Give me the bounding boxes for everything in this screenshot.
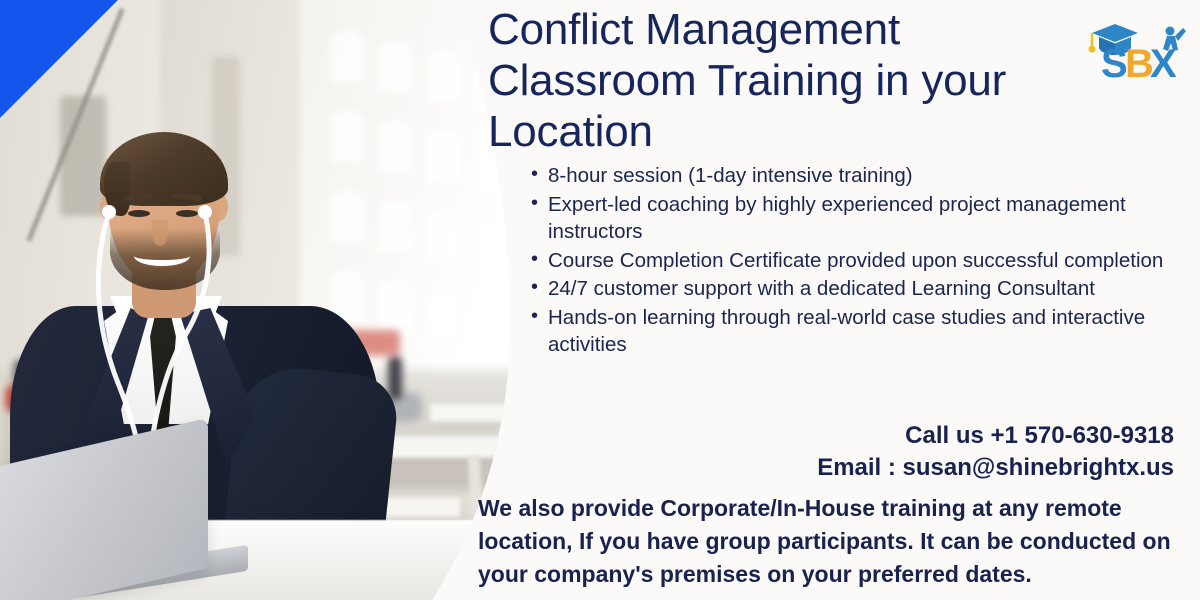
corporate-training-note: We also provide Corporate/In-House train… [478,492,1194,591]
content-area: Conflict Management Classroom Training i… [0,0,1200,600]
list-item: 24/7 customer support with a dedicated L… [528,275,1188,303]
list-item: 8-hour session (1-day intensive training… [528,162,1188,190]
list-item: Hands-on learning through real-world cas… [528,304,1188,359]
email-line[interactable]: Email : susan@shinebrightx.us [620,452,1174,484]
contact-block: Call us +1 570-630-9318 Email : susan@sh… [620,420,1190,484]
logo-letter-s: S [1101,42,1128,86]
feature-list: 8-hour session (1-day intensive training… [528,162,1188,360]
list-item: Expert-led coaching by highly experience… [528,191,1188,246]
sbx-logo: S B X [1082,16,1190,86]
list-item: Course Completion Certificate provided u… [528,247,1188,275]
event-banner: Conflict Management Classroom Training i… [0,0,1200,600]
phone-line[interactable]: Call us +1 570-630-9318 [620,420,1174,452]
climbing-person-icon [1163,27,1186,52]
page-title: Conflict Management Classroom Training i… [488,4,1078,157]
